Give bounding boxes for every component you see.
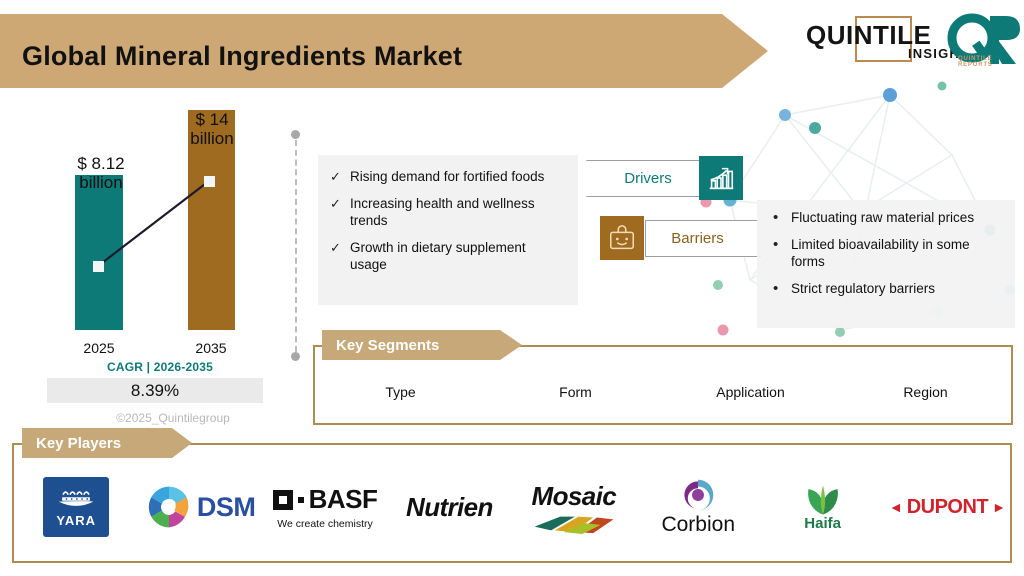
segment-item-form[interactable]: Form xyxy=(488,384,663,400)
player-label-dsm: DSM xyxy=(197,492,256,523)
haifa-leaf-icon xyxy=(803,483,843,517)
player-label-mosaic: Mosaic xyxy=(532,481,617,512)
infographic-slide: Global Mineral Ingredients Market QUINTI… xyxy=(0,0,1024,576)
barriers-list-panel: • Fluctuating raw material prices • Limi… xyxy=(757,200,1015,328)
player-label-yara: YARA xyxy=(56,513,96,528)
player-logo-nutrien: Nutrien xyxy=(387,466,511,548)
key-players-tab: Key Players xyxy=(22,428,192,458)
player-logo-corbion: Corbion xyxy=(636,466,760,548)
barriers-title: Barriers xyxy=(671,230,736,247)
value-label-2035-line1: $ 14 xyxy=(157,110,267,129)
drivers-list-panel: ✓ Rising demand for fortified foods ✓ In… xyxy=(318,155,578,305)
bullet-icon: • xyxy=(773,209,778,227)
drivers-ribbon: Drivers xyxy=(586,160,700,197)
cagr-label: CAGR | 2026-2035 xyxy=(40,360,280,374)
player-label-corbion: Corbion xyxy=(661,513,735,537)
value-label-2025: $ 8.12 billion xyxy=(46,154,156,192)
brand-logo: QUINTILE INSIGHTS QUINTILE REPORTS xyxy=(806,8,1020,74)
driver-item-label: Rising demand for fortified foods xyxy=(350,169,544,184)
check-icon: ✓ xyxy=(330,240,341,256)
player-label-basf: BASF xyxy=(309,484,378,515)
viking-ship-icon xyxy=(53,486,99,512)
axis-label-2025: 2025 xyxy=(59,340,139,356)
key-segments-title: Key Segments xyxy=(322,337,439,354)
driver-item: ✓ Increasing health and wellness trends xyxy=(328,196,566,229)
barrier-item: • Limited bioavailability in some forms xyxy=(765,237,1007,270)
barrier-item: • Strict regulatory barriers xyxy=(765,281,1007,297)
page-title: Global Mineral Ingredients Market xyxy=(22,36,722,76)
bar-2025 xyxy=(75,175,123,330)
barrier-item-label: Strict regulatory barriers xyxy=(791,281,935,296)
player-logo-yara: YARA xyxy=(14,466,138,548)
market-size-bar-chart: $ 8.12 billion $ 14 billion 2025 2035 xyxy=(40,110,280,360)
player-logo-mosaic: Mosaic xyxy=(512,466,636,548)
logo-mark-subtitle: QUINTILE REPORTS xyxy=(958,56,1020,68)
key-players-logo-row: YARA DSM BASF We create xyxy=(14,466,1010,548)
divider-dot-bottom xyxy=(291,352,300,361)
player-label-dupont: DUPONT xyxy=(907,496,988,519)
basf-dot-icon xyxy=(298,497,304,503)
barriers-ribbon: Barriers xyxy=(645,220,762,257)
player-label-nutrien: Nutrien xyxy=(406,492,493,523)
value-label-2025-line2: billion xyxy=(46,173,156,192)
drivers-title: Drivers xyxy=(614,170,672,187)
key-players-title: Key Players xyxy=(22,435,121,452)
barrier-item-label: Fluctuating raw material prices xyxy=(791,210,974,225)
player-logo-basf: BASF We create chemistry xyxy=(263,466,387,548)
divider-dot-top xyxy=(291,130,300,139)
check-icon: ✓ xyxy=(330,169,341,185)
driver-item-label: Growth in dietary supplement usage xyxy=(350,240,526,271)
vertical-dashed-divider xyxy=(290,130,302,362)
player-logo-haifa: Haifa xyxy=(760,466,884,548)
corbion-swirl-icon xyxy=(681,478,715,512)
key-segments-tab: Key Segments xyxy=(322,330,522,360)
basf-tagline: We create chemistry xyxy=(277,518,373,530)
value-label-2035-line2: billion xyxy=(157,129,267,148)
driver-item: ✓ Growth in dietary supplement usage xyxy=(328,240,566,273)
driver-item-label: Increasing health and wellness trends xyxy=(350,196,535,227)
left-caret-icon: ◄ xyxy=(889,499,903,515)
mosaic-field-icon xyxy=(532,512,616,534)
logo-primary-text: QUINTILE xyxy=(806,22,931,48)
value-label-2035: $ 14 billion xyxy=(157,110,267,148)
data-marker-2025 xyxy=(93,261,104,272)
bullet-icon: • xyxy=(773,236,778,254)
player-label-haifa: Haifa xyxy=(804,515,841,532)
segment-item-region[interactable]: Region xyxy=(838,384,1013,400)
segment-item-application[interactable]: Application xyxy=(663,384,838,400)
player-logo-dupont: ◄ DUPONT ► xyxy=(885,466,1010,548)
dsm-swirl-icon xyxy=(146,484,192,530)
growth-chart-icon xyxy=(699,156,743,200)
value-label-2025-line1: $ 8.12 xyxy=(46,154,156,173)
divider-dashed-line xyxy=(295,140,297,352)
data-marker-2035 xyxy=(204,176,215,187)
key-segments-items: Type Form Application Region xyxy=(313,378,1013,406)
barrier-item-label: Limited bioavailability in some forms xyxy=(791,237,970,268)
basf-square-icon xyxy=(273,490,293,510)
driver-item: ✓ Rising demand for fortified foods xyxy=(328,169,566,185)
check-icon: ✓ xyxy=(330,196,341,212)
player-logo-dsm: DSM xyxy=(138,466,262,548)
barrier-item: • Fluctuating raw material prices xyxy=(765,210,1007,226)
axis-label-2035: 2035 xyxy=(171,340,251,356)
cagr-value: 8.39% xyxy=(47,378,263,403)
bullet-icon: • xyxy=(773,280,778,298)
barrier-briefcase-icon xyxy=(600,216,644,260)
segment-item-type[interactable]: Type xyxy=(313,384,488,400)
right-caret-icon: ► xyxy=(992,499,1006,515)
copyright-text: ©2025_Quintilegroup xyxy=(40,411,306,425)
